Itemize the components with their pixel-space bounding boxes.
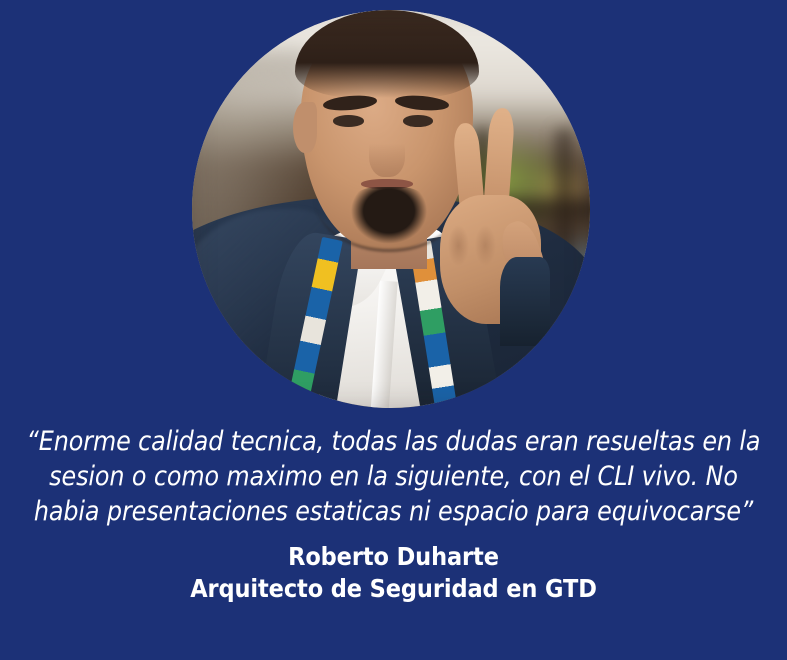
subject-goatee bbox=[347, 187, 431, 247]
portrait-photo bbox=[192, 10, 590, 408]
quote-block: “Enorme calidad tecnica, todas las dudas… bbox=[0, 424, 787, 529]
person-name: Roberto Duharte bbox=[0, 541, 787, 573]
photo-subject bbox=[192, 10, 590, 408]
subject-eye-left bbox=[333, 115, 363, 127]
subject-hair bbox=[295, 10, 478, 98]
subject-ear bbox=[293, 102, 317, 154]
subject-sleeve bbox=[500, 257, 550, 346]
testimonial-card: “Enorme calidad tecnica, todas las dudas… bbox=[0, 0, 787, 660]
portrait-avatar bbox=[192, 10, 590, 408]
quote-text: “Enorme calidad tecnica, todas las dudas… bbox=[0, 424, 787, 529]
subject-raised-hand bbox=[431, 106, 550, 329]
subject-eye-right bbox=[403, 115, 433, 127]
attribution-block: Roberto Duharte Arquitecto de Seguridad … bbox=[0, 541, 787, 605]
person-role: Arquitecto de Seguridad en GTD bbox=[0, 573, 787, 605]
